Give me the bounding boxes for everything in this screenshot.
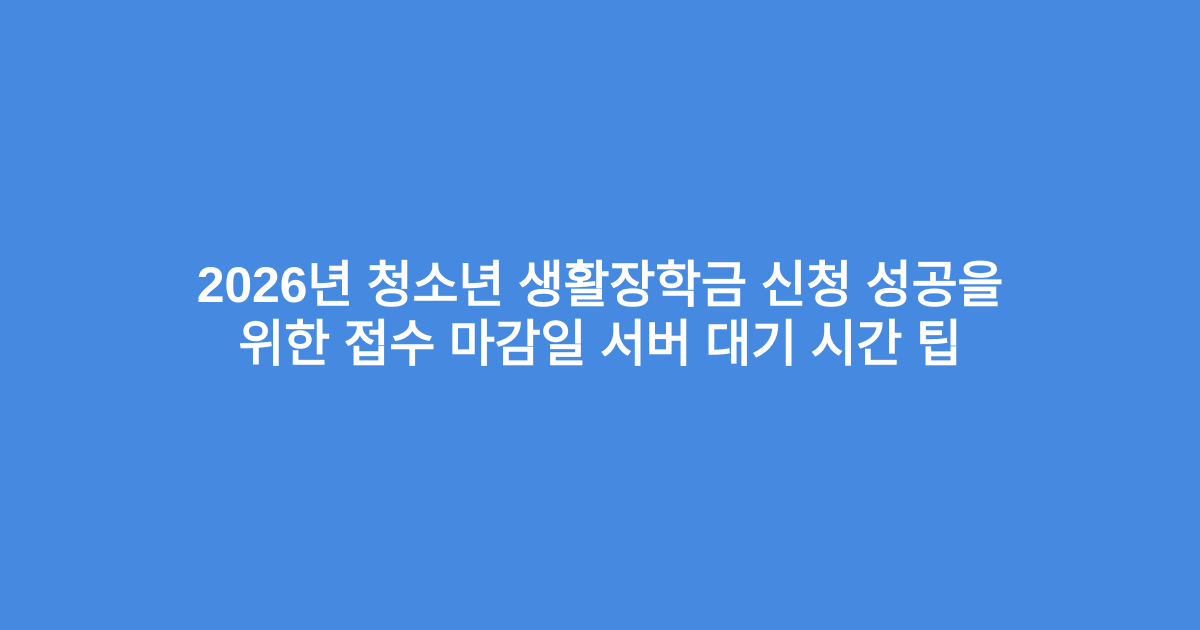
og-card-canvas: 2026년 청소년 생활장학금 신청 성공을 위한 접수 마감일 서버 대기 시… (0, 0, 1200, 630)
page-title: 2026년 청소년 생활장학금 신청 성공을 위한 접수 마감일 서버 대기 시… (55, 256, 1145, 374)
title-block: 2026년 청소년 생활장학금 신청 성공을 위한 접수 마감일 서버 대기 시… (55, 256, 1145, 374)
